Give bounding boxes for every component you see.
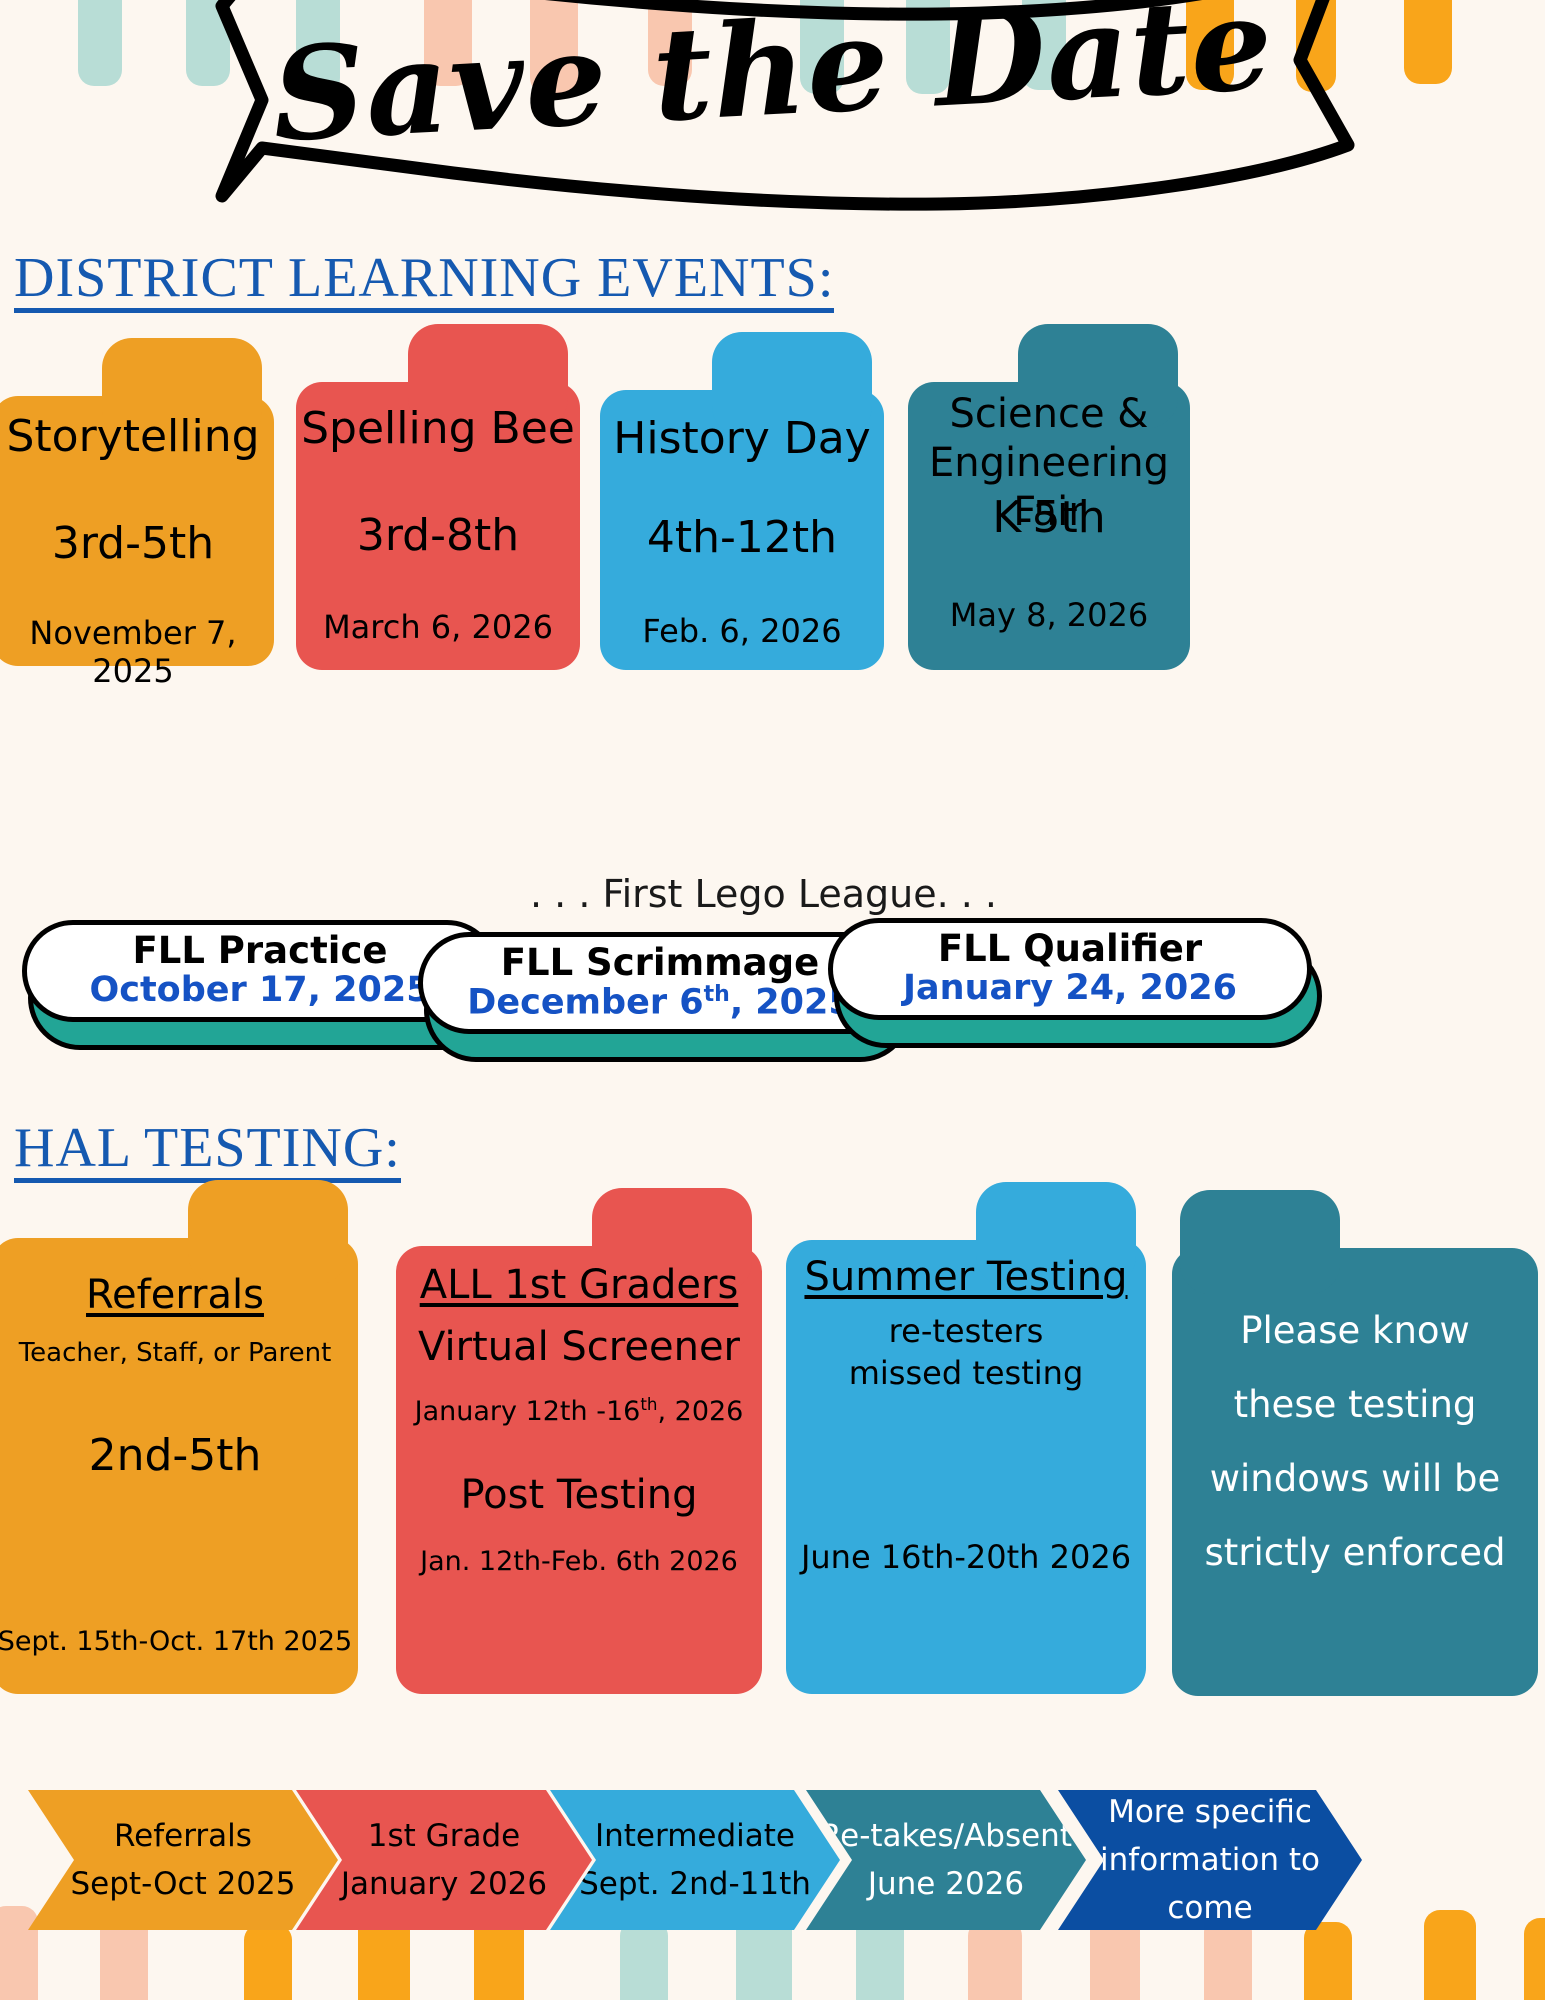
district-event-card[interactable]: Spelling Bee3rd-8thMarch 6, 2026 (296, 382, 580, 670)
fll-event-date: October 17, 2025 (89, 971, 430, 1010)
timeline-chevron[interactable]: ReferralsSept-Oct 2025 (28, 1790, 338, 1930)
timeline-chevron[interactable]: Re-takes/AbsentJune 2026 (806, 1790, 1086, 1930)
card-tab-shape (188, 1180, 348, 1284)
card-grade-range: 3rd-5th (0, 518, 274, 569)
hal-card-grade-range: 2nd-5th (0, 1430, 358, 1481)
district-event-card[interactable]: Storytelling3rd-5thNovember 7, 2025 (0, 396, 274, 666)
timeline-chevron[interactable]: 1st GradeJanuary 2026 (296, 1790, 592, 1930)
card-tab-shape (1180, 1190, 1340, 1294)
decorative-stripe (1524, 1918, 1545, 2000)
hal-card-title: Referrals (0, 1272, 358, 1318)
poster-canvas: Save the Date DISTRICT LEARNING EVENTS: … (0, 0, 1545, 2000)
chevron-line-1: More specific (1108, 1788, 1312, 1836)
hal-card-date: June 16th-20th 2026 (786, 1538, 1146, 1576)
hal-card-line-3: Post Testing (396, 1472, 762, 1518)
decorative-stripe (244, 1924, 292, 2000)
fll-event-name: FLL Practice (133, 932, 388, 971)
fll-event-pill[interactable]: FLL QualifierJanuary 24, 2026 (828, 918, 1318, 1042)
chevron-line-2: January 2026 (341, 1860, 547, 1908)
card-grade-range: K-5th (908, 492, 1190, 543)
card-title: Spelling Bee (296, 402, 580, 456)
pill-face: FLL QualifierJanuary 24, 2026 (828, 918, 1312, 1020)
hal-card-date: Sept. 15th-Oct. 17th 2025 (0, 1626, 358, 1657)
chevron-line-1: Intermediate (595, 1812, 795, 1860)
banner-title-text: Save the Date (269, 0, 1277, 171)
hal-card-subtitle: Teacher, Staff, or Parent (0, 1338, 358, 1368)
hal-testing-card[interactable]: ReferralsTeacher, Staff, or Parent2nd-5t… (0, 1238, 358, 1694)
hal-card-line-2: January 12th -16th, 2026 (396, 1394, 762, 1427)
chevron-line-2: Sept-Oct 2025 (71, 1860, 296, 1908)
card-title: Storytelling (0, 410, 274, 464)
chevron-line-2: June 2026 (868, 1860, 1024, 1908)
card-date: March 6, 2026 (296, 608, 580, 646)
first-lego-league-label: . . . First Lego League. . . (530, 872, 997, 916)
fll-event-date: January 24, 2026 (903, 969, 1237, 1008)
testing-timeline-chevrons: ReferralsSept-Oct 20251st GradeJanuary 2… (28, 1790, 1518, 1930)
save-the-date-banner: Save the Date (0, 0, 1545, 230)
hal-card-title: ALL 1st Graders (396, 1262, 762, 1308)
hal-testing-heading: HAL TESTING: (14, 1120, 401, 1183)
district-event-card[interactable]: Science & Engineering FairK-5thMay 8, 20… (908, 382, 1190, 670)
district-event-card[interactable]: History Day4th-12thFeb. 6, 2026 (600, 390, 884, 670)
card-date: May 8, 2026 (908, 596, 1190, 634)
hal-testing-card[interactable]: Please know these testing windows will b… (1172, 1248, 1538, 1696)
hal-card-title: Summer Testing (786, 1254, 1146, 1300)
chevron-line-1: Re-takes/Absent (820, 1812, 1072, 1860)
hal-card-line-2: missed testing (786, 1354, 1146, 1392)
timeline-chevron[interactable]: More specificinformation tocome (1058, 1790, 1362, 1930)
chevron-line-2: Sept. 2nd-11th (579, 1860, 811, 1908)
hal-card-line-1: re-testers (786, 1312, 1146, 1350)
fll-event-date: December 6th, 2025 (467, 983, 852, 1022)
card-title: History Day (600, 412, 884, 466)
chevron-line-3: come (1167, 1884, 1252, 1932)
chevron-line-1: Referrals (114, 1812, 252, 1860)
card-grade-range: 3rd-8th (296, 510, 580, 561)
hal-card-line-1: Virtual Screener (396, 1324, 762, 1370)
decorative-stripe (620, 1920, 668, 2000)
hal-testing-card[interactable]: ALL 1st GradersVirtual ScreenerJanuary 1… (396, 1246, 762, 1694)
banner-title: Save the Date (0, 0, 1545, 200)
decorative-stripe (968, 1920, 1022, 2000)
hal-card-note: Please know these testing windows will b… (1172, 1294, 1538, 1590)
card-date: November 7, 2025 (0, 614, 274, 690)
timeline-chevron[interactable]: IntermediateSept. 2nd-11th (550, 1790, 840, 1930)
card-grade-range: 4th-12th (600, 512, 884, 563)
district-learning-events-heading: DISTRICT LEARNING EVENTS: (14, 250, 834, 313)
fll-event-name: FLL Scrimmage (501, 944, 819, 983)
fll-event-name: FLL Qualifier (938, 930, 1202, 969)
hal-card-line-4: Jan. 12th-Feb. 6th 2026 (396, 1546, 762, 1577)
card-date: Feb. 6, 2026 (600, 612, 884, 650)
hal-testing-card[interactable]: Summer Testingre-testersmissed testingJu… (786, 1240, 1146, 1694)
decorative-stripe (1304, 1922, 1352, 2000)
chevron-line-2: information to (1100, 1836, 1320, 1884)
chevron-line-1: 1st Grade (368, 1812, 520, 1860)
